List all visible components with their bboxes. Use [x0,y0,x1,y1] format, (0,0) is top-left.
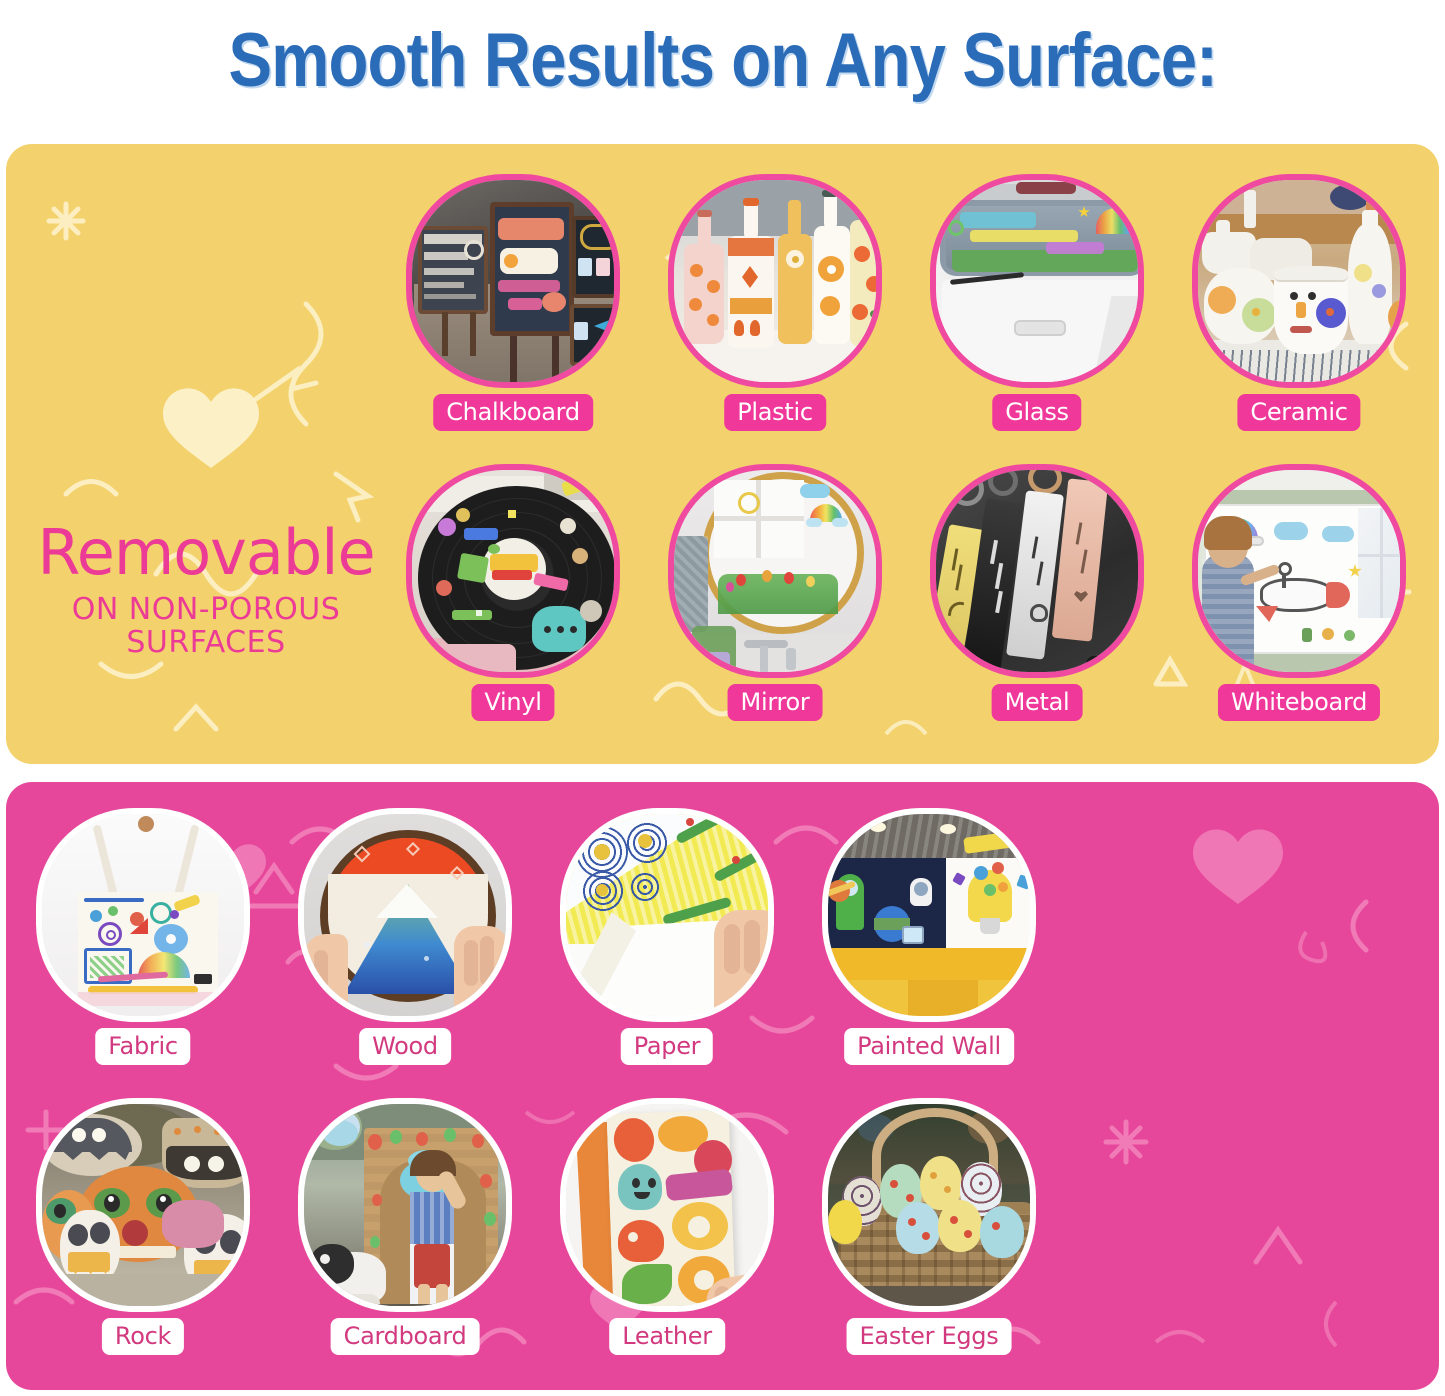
infographic-page: Smooth Results on Any Surface: [0,0,1445,1396]
tile-image-fabric [36,808,250,1022]
tile-label-paper: Paper [621,1028,713,1065]
tile-label-painted-wall: Painted Wall [844,1028,1014,1065]
tile-label-fabric: Fabric [95,1028,190,1065]
tile-image-cardboard [298,1098,512,1312]
tile-label-rock: Rock [102,1318,184,1355]
heading-removable-text: Removable [16,524,396,583]
tile-plastic[interactable]: Plastic [668,174,882,434]
tile-label-vinyl: Vinyl [471,684,554,721]
tile-image-painted-wall [822,808,1036,1022]
tile-fabric[interactable]: Fabric [36,808,250,1070]
tile-label-ceramic: Ceramic [1237,394,1360,431]
subheading-removable-line1: ON NON-POROUS [16,593,396,627]
tile-image-easter-eggs [822,1098,1036,1312]
tile-mirror[interactable]: Mirror [668,464,882,726]
section-permanent: Permanent ON POROUS SURFACES [6,782,1439,1390]
subheading-removable-line2: SURFACES [16,626,396,660]
tile-chalkboard[interactable]: Chalkboard [406,174,620,434]
tile-image-chalkboard [406,174,620,388]
tile-image-ceramic [1192,174,1406,388]
tile-image-wood [298,808,512,1022]
tile-label-cardboard: Cardboard [331,1318,480,1355]
tile-label-glass: Glass [992,394,1081,431]
tile-label-whiteboard: Whiteboard [1218,684,1380,721]
tile-label-plastic: Plastic [724,394,826,431]
tile-wood[interactable]: Wood [298,808,512,1070]
tile-glass[interactable]: Glass [930,174,1144,434]
tile-image-whiteboard [1192,464,1406,678]
tile-label-leather: Leather [609,1318,725,1355]
section-removable: Removable ON NON-POROUS SURFACES [6,144,1439,764]
tile-label-wood: Wood [359,1028,451,1065]
tile-image-mirror [668,464,882,678]
tile-label-chalkboard: Chalkboard [433,394,593,431]
tile-label-mirror: Mirror [728,684,823,721]
tile-image-metal [930,464,1144,678]
tile-image-rock [36,1098,250,1312]
tile-vinyl[interactable]: Vinyl [406,464,620,726]
tile-paper[interactable]: Paper [560,808,774,1070]
header: Smooth Results on Any Surface: [0,0,1445,120]
tile-label-metal: Metal [992,684,1083,721]
page-title: Smooth Results on Any Surface: [228,17,1217,104]
tile-image-paper [560,808,774,1022]
tile-label-easter-eggs: Easter Eggs [847,1318,1012,1355]
tile-image-glass [930,174,1144,388]
tile-rock[interactable]: Rock [36,1098,250,1360]
tile-image-leather [560,1098,774,1312]
tile-whiteboard[interactable]: Whiteboard [1192,464,1406,726]
tile-easter-eggs[interactable]: Easter Eggs [822,1098,1036,1360]
tile-image-plastic [668,174,882,388]
tile-painted-wall[interactable]: Painted Wall [822,808,1036,1070]
tile-metal[interactable]: Metal [930,464,1144,726]
tile-cardboard[interactable]: Cardboard [298,1098,512,1360]
tile-ceramic[interactable]: Ceramic [1192,174,1406,434]
section-heading-removable: Removable ON NON-POROUS SURFACES [16,524,396,660]
tile-leather[interactable]: Leather [560,1098,774,1360]
tile-image-vinyl [406,464,620,678]
